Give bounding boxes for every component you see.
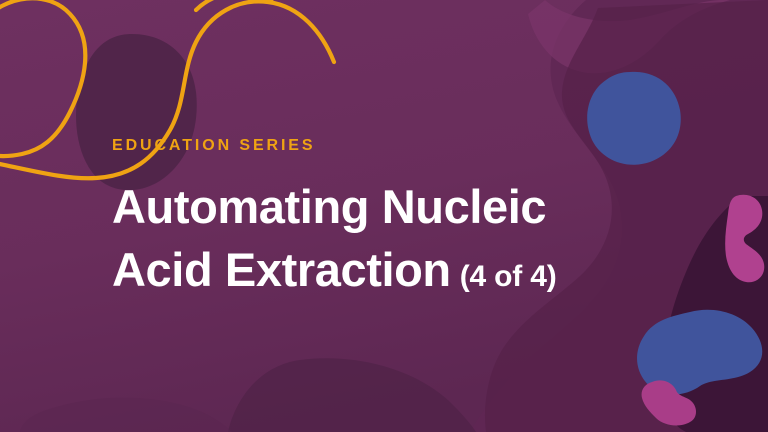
eyebrow-label: EDUCATION SERIES: [112, 138, 712, 154]
title-line-1: Automating Nucleic: [112, 176, 712, 239]
title-line-2-wrapper: Acid Extraction(4 of 4): [112, 239, 712, 302]
slide-text-content: EDUCATION SERIES Automating Nucleic Acid…: [112, 138, 712, 301]
title-episode-count: (4 of 4): [451, 260, 557, 293]
presentation-slide: EDUCATION SERIES Automating Nucleic Acid…: [0, 0, 768, 432]
title-line-2: Acid Extraction: [112, 243, 451, 296]
page-title: Automating Nucleic Acid Extraction(4 of …: [112, 176, 712, 301]
